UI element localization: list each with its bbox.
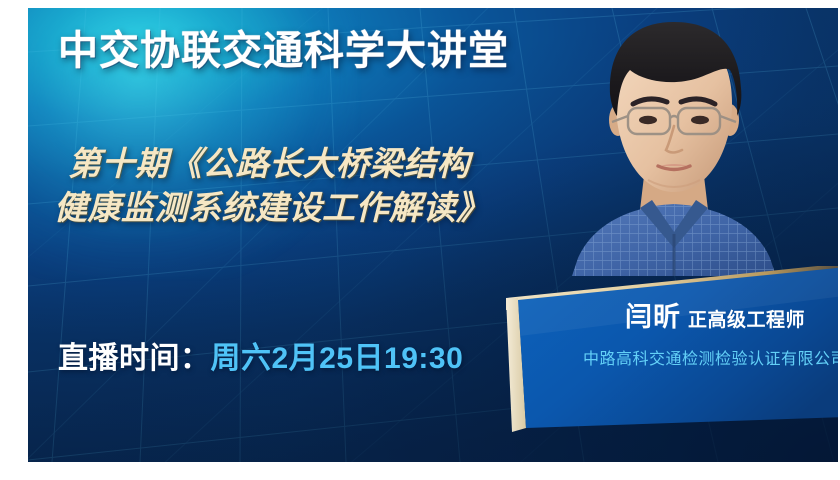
poster-headline: 中交协联交通科学大讲堂 [58, 30, 509, 73]
speaker-organization: 中路高科交通检测检验认证有限公司 [560, 345, 838, 369]
live-schedule-value: 周六2月25日19:30 [211, 342, 464, 375]
live-schedule: 直播时间：周六2月25日19:30 [58, 333, 463, 377]
speaker-title: 正高级工程师 [688, 310, 805, 331]
speaker-card: 闫昕正高级工程师 中路高科交通检测检验认证有限公司 [504, 266, 838, 446]
speaker-name-row: 闫昕正高级工程师 [560, 304, 838, 331]
live-schedule-label: 直播时间： [58, 342, 211, 375]
speaker-name: 闫昕 [625, 302, 681, 332]
subtitle-line-1: 第十期《公路长大桥梁结构 [68, 145, 470, 182]
poster-frame: 中交协联交通科学大讲堂 第十期《公路长大桥梁结构 健康监测系统建设工作解读》 直… [0, 0, 840, 480]
speaker-info: 闫昕正高级工程师 中路高科交通检测检验认证有限公司 [560, 304, 838, 369]
poster-subtitle: 第十期《公路长大桥梁结构 健康监测系统建设工作解读》 [68, 142, 588, 229]
poster-artboard: 中交协联交通科学大讲堂 第十期《公路长大桥梁结构 健康监测系统建设工作解读》 直… [28, 8, 838, 462]
subtitle-line-2: 健康监测系统建设工作解读》 [54, 186, 588, 230]
